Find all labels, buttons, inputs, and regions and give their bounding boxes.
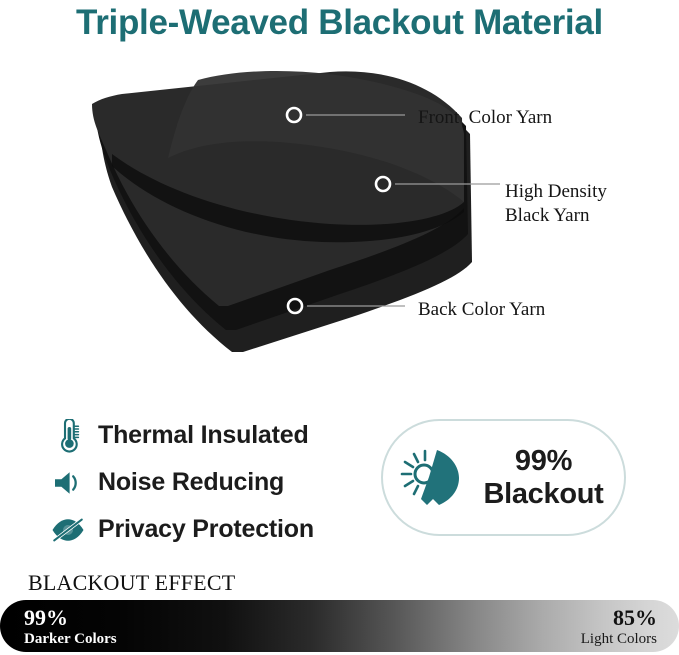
blackout-badge-percent: 99% — [515, 445, 572, 477]
thermometer-icon — [48, 416, 88, 456]
blackout-badge: 99% Blackout — [381, 419, 626, 536]
callout-label-back: Back Color Yarn — [418, 298, 545, 322]
speaker-icon — [48, 463, 88, 503]
blackout-effect-heading: BLACKOUT EFFECT — [28, 570, 235, 596]
gradient-bar-right-caption: Light Colors — [581, 630, 657, 648]
feature-label-noise-reducing: Noise Reducing — [98, 468, 284, 497]
feature-label-thermal-insulated: Thermal Insulated — [98, 421, 309, 450]
feature-list: Thermal Insulated Noise Reducing Privacy… — [48, 412, 358, 553]
gradient-bar-left-group: 99% Darker Colors — [24, 606, 117, 648]
blackout-badge-text: 99% Blackout — [483, 445, 603, 511]
gradient-bar-right-group: 85% Light Colors — [581, 606, 657, 648]
sun-blocked-icon — [399, 447, 469, 509]
gradient-bar-left-caption: Darker Colors — [24, 630, 117, 648]
blackout-effect-gradient-bar: 99% Darker Colors 85% Light Colors — [0, 600, 679, 652]
gradient-bar-right-percent: 85% — [581, 606, 657, 630]
page-title: Triple-Weaved Blackout Material — [0, 0, 679, 46]
eye-slash-icon — [48, 510, 88, 550]
callout-label-high-density: High Density Black Yarn — [505, 180, 607, 228]
feature-item-thermal-insulated: Thermal Insulated — [48, 412, 358, 459]
blackout-badge-caption: Blackout — [483, 478, 603, 510]
feature-item-noise-reducing: Noise Reducing — [48, 459, 358, 506]
feature-item-privacy-protection: Privacy Protection — [48, 506, 358, 553]
callout-label-front: Front Color Yarn — [418, 106, 552, 130]
gradient-bar-left-percent: 99% — [24, 606, 117, 630]
feature-label-privacy-protection: Privacy Protection — [98, 515, 314, 544]
